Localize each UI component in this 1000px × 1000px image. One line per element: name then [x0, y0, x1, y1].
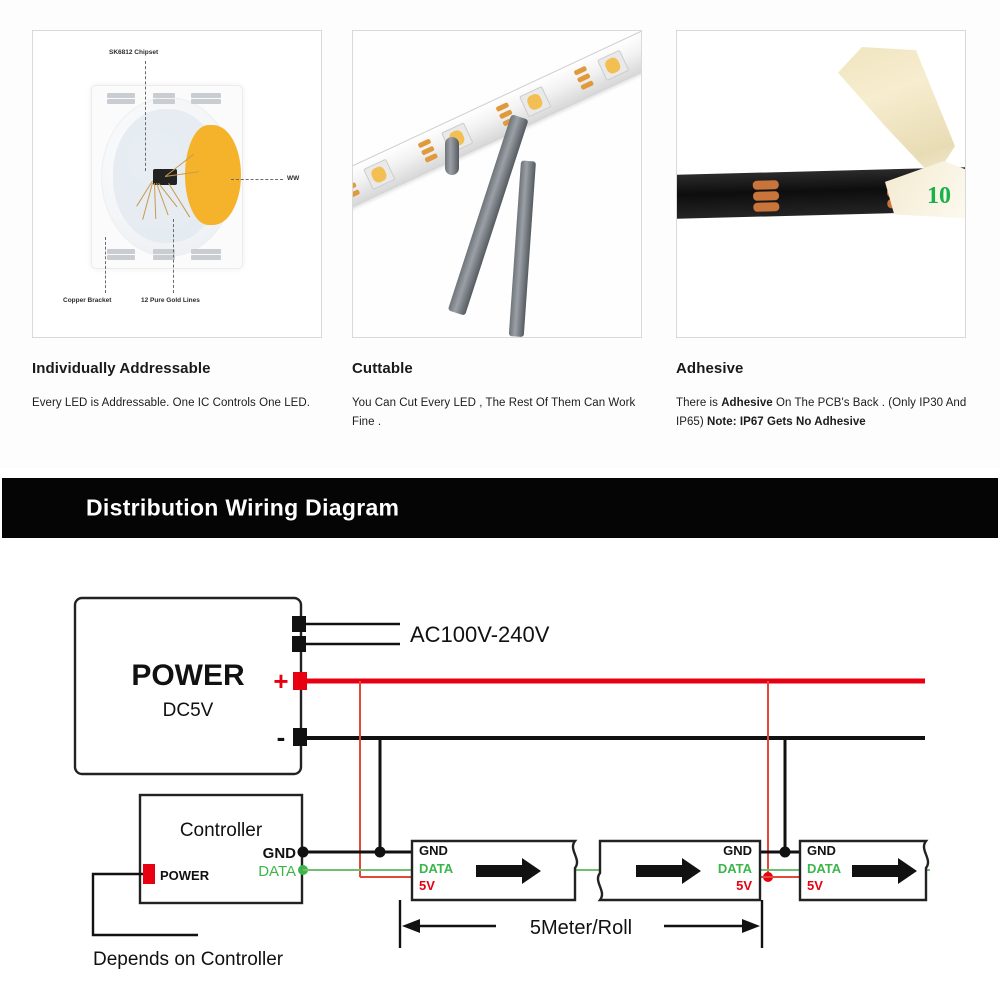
warm-white-phosphor	[185, 125, 241, 225]
controller-gnd-node	[298, 847, 309, 858]
leader-chipset	[145, 61, 146, 171]
controller-gnd-label: GND	[263, 845, 297, 862]
banner-title: Distribution Wiring Diagram	[86, 495, 399, 522]
annotation-ww: WW	[287, 175, 299, 182]
leader-ww	[231, 179, 283, 180]
power-supply-spec: DC5V	[163, 700, 214, 721]
controller-title: Controller	[180, 820, 263, 841]
section-banner: Distribution Wiring Diagram	[2, 478, 998, 538]
strip3-5v-label: 5V	[807, 878, 823, 893]
minus-sign: -	[277, 722, 286, 752]
dimension-arrow-left-icon	[402, 919, 420, 933]
controller-note: Depends on Controller	[93, 949, 284, 970]
feature-image-individually-addressable: SK6812 Chipset WW Copper Bracket 12 Pure…	[32, 30, 322, 338]
dimension-label: 5Meter/Roll	[530, 917, 632, 939]
leader-copper	[105, 237, 106, 293]
strip3-data-label: DATA	[807, 861, 842, 876]
feature-title: Adhesive	[676, 360, 968, 377]
controller-power-terminal	[143, 864, 155, 884]
annotation-gold-lines: 12 Pure Gold Lines	[141, 297, 200, 304]
controller-power-label: POWER	[160, 868, 210, 883]
ac-input-label: AC100V-240V	[410, 622, 550, 647]
wiring-diagram: POWER DC5V AC100V-240V + - Controller PO…	[0, 540, 1000, 1000]
feature-description: Every LED is Addressable. One IC Control…	[32, 394, 324, 413]
ac-terminal-l	[292, 616, 306, 632]
feature-image-adhesive: 10	[676, 30, 966, 338]
feature-description: There is Adhesive On The PCB's Back . (O…	[676, 394, 968, 431]
feature-card-individually-addressable: SK6812 Chipset WW Copper Bracket 12 Pure…	[32, 30, 324, 413]
plus-sign: +	[273, 666, 288, 696]
adhesive-desc-bold2: Note: IP67 Gets No Adhesive	[707, 416, 866, 428]
leader-gold	[173, 219, 174, 293]
strip1-data-label: DATA	[419, 861, 454, 876]
controller-data-label: DATA	[258, 863, 296, 880]
ac-terminal-n	[292, 636, 306, 652]
feature-panel: SK6812 Chipset WW Copper Bracket 12 Pure…	[0, 0, 1000, 468]
feature-card-cuttable: Cuttable You Can Cut Every LED , The Res…	[352, 30, 644, 431]
adhesive-desc-bold1: Adhesive	[721, 397, 773, 409]
power-supply-title: POWER	[131, 659, 245, 692]
strip2-gnd-label: GND	[723, 843, 752, 858]
strip1-gnd-label: GND	[419, 843, 448, 858]
feature-description: You Can Cut Every LED , The Rest Of Them…	[352, 394, 644, 431]
green-print-mark: 10	[927, 183, 951, 210]
strip2-data-label: DATA	[718, 861, 753, 876]
strip1-5v-label: 5V	[419, 878, 435, 893]
strip2-5v-label: 5V	[736, 878, 752, 893]
adhesive-desc-part1: There is	[676, 397, 721, 409]
feature-title: Individually Addressable	[32, 360, 324, 377]
feature-card-adhesive: 10 Adhesive There is Adhesive On The PCB…	[676, 30, 968, 431]
strip3-gnd-label: GND	[807, 843, 836, 858]
annotation-chipset: SK6812 Chipset	[109, 49, 158, 56]
dimension-arrow-right-icon	[742, 919, 760, 933]
feature-image-cuttable	[352, 30, 642, 338]
feature-title: Cuttable	[352, 360, 644, 377]
annotation-copper-bracket: Copper Bracket	[63, 297, 111, 304]
scissors-tip	[445, 137, 459, 175]
